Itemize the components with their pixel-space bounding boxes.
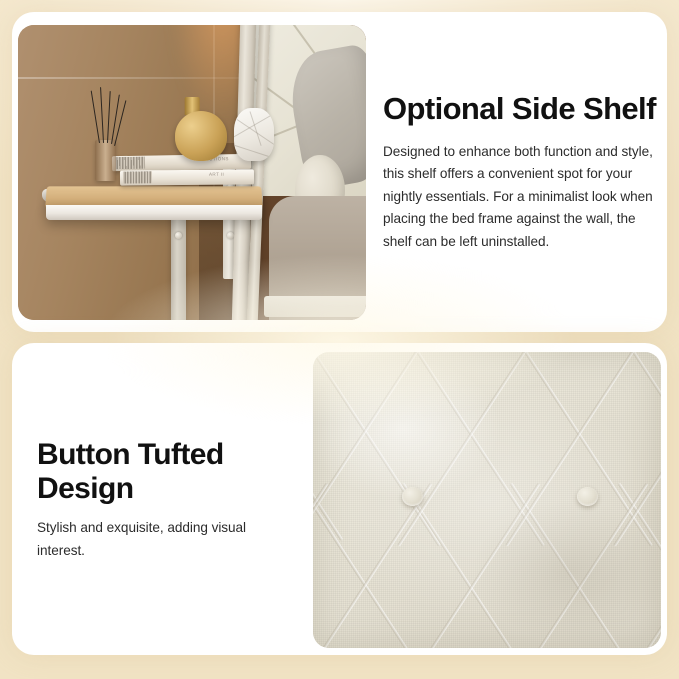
side-shelf-body: Designed to enhance both function and st…: [383, 141, 659, 254]
side-shelf-headline: Optional Side Shelf: [383, 92, 659, 127]
book-cover-pattern: [123, 172, 152, 184]
button-tufted-photo: [313, 352, 661, 648]
white-geometric-vase: [234, 108, 274, 161]
book-bottom: ART II: [120, 170, 254, 186]
feature-card-side-shelf: FICTIONS ART II: [12, 12, 667, 332]
reed-diffuser-bottle: [95, 140, 117, 181]
tufted-headline: Button Tufted Design: [37, 438, 297, 505]
linen-fabric-texture: [313, 352, 661, 648]
feature-card-button-tufted: Button Tufted Design Stylish and exquisi…: [12, 343, 667, 655]
shelf-front-edge: [46, 205, 262, 220]
tufted-text-block: Button Tufted Design Stylish and exquisi…: [37, 438, 297, 562]
book-cover-pattern: [115, 157, 146, 169]
stacked-books: FICTIONS ART II: [112, 155, 251, 187]
promo-page: FICTIONS ART II: [0, 0, 679, 679]
tufted-body: Stylish and exquisite, adding visual int…: [37, 517, 297, 562]
fabric-button: [577, 487, 598, 506]
bed-rail: [264, 296, 366, 317]
side-shelf-photo: FICTIONS ART II: [18, 25, 366, 320]
book-top: FICTIONS: [112, 154, 251, 171]
side-shelf-text-block: Optional Side Shelf Designed to enhance …: [383, 92, 659, 253]
fabric-button: [402, 487, 423, 506]
gold-vase: [175, 111, 227, 161]
screw-icon: [175, 232, 182, 239]
book-spine-label: ART II: [209, 172, 224, 177]
